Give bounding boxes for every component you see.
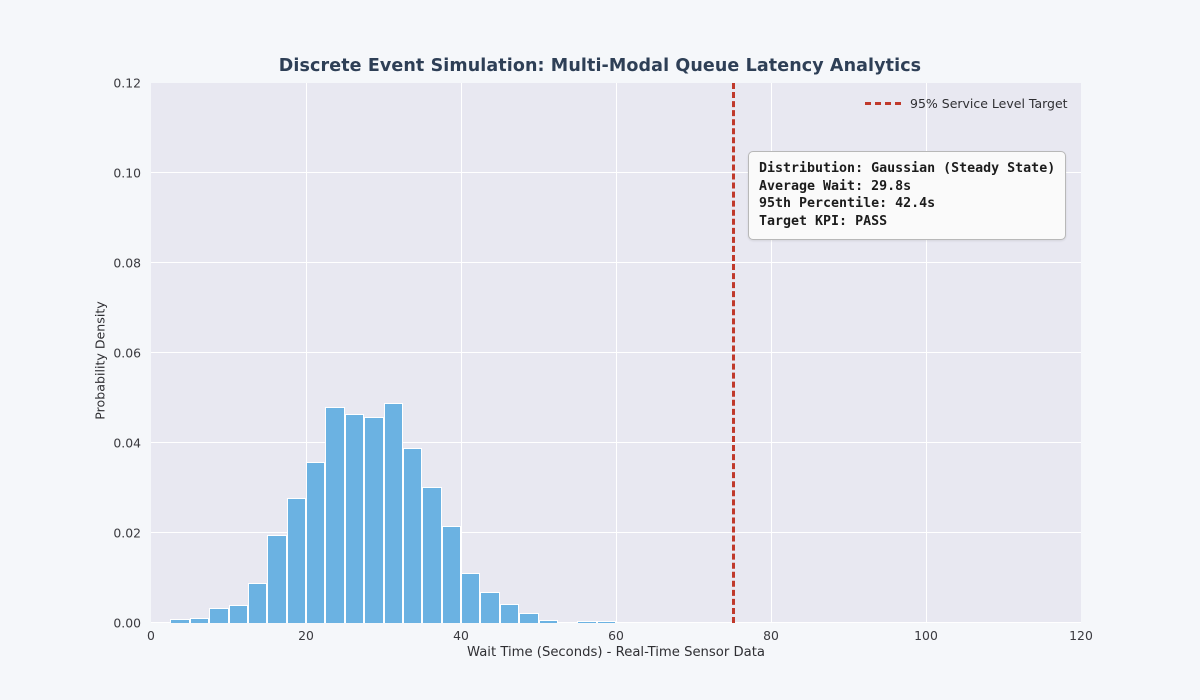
annotation-box: Distribution: Gaussian (Steady State) Av… xyxy=(748,151,1066,240)
histogram-bar xyxy=(267,535,286,623)
y-axis-tick-label: 0.08 xyxy=(113,256,141,271)
histogram-bar xyxy=(442,526,461,623)
threshold-line-95-percent xyxy=(732,83,735,623)
histogram-bar xyxy=(364,417,383,623)
gridline-vertical xyxy=(461,83,462,623)
x-axis-label: Wait Time (Seconds) - Real-Time Sensor D… xyxy=(151,645,1081,660)
histogram-bar xyxy=(306,462,325,623)
y-axis-tick-label: 0.10 xyxy=(113,166,141,181)
histogram-bar xyxy=(209,608,228,623)
x-axis-tick-label: 0 xyxy=(147,628,155,643)
legend-marker-dashed-line xyxy=(865,102,901,105)
y-axis-tick-label: 0.00 xyxy=(113,616,141,631)
histogram-bar xyxy=(500,604,519,623)
gridline-vertical xyxy=(616,83,617,623)
histogram-bar xyxy=(403,448,422,623)
x-axis-tick-label: 20 xyxy=(298,628,314,643)
histogram-bar xyxy=(461,573,480,623)
x-axis-tick-label: 40 xyxy=(453,628,469,643)
y-axis-label: Probability Density xyxy=(93,251,108,471)
y-axis-tick-label: 0.12 xyxy=(113,76,141,91)
histogram-bar xyxy=(597,621,616,623)
histogram-bar xyxy=(519,613,538,623)
histogram-bar xyxy=(539,620,558,623)
x-axis-tick-label: 80 xyxy=(763,628,779,643)
y-axis-tick-label: 0.06 xyxy=(113,346,141,361)
histogram-bar xyxy=(190,618,209,623)
histogram-bar xyxy=(577,621,596,623)
histogram-bar xyxy=(248,583,267,624)
chart-figure: Discrete Event Simulation: Multi-Modal Q… xyxy=(0,0,1200,700)
histogram-bar xyxy=(480,592,499,623)
x-axis-tick-label: 120 xyxy=(1069,628,1093,643)
y-axis-tick-label: 0.02 xyxy=(113,526,141,541)
legend-label: 95% Service Level Target xyxy=(910,96,1068,111)
histogram-bar xyxy=(422,487,441,623)
plot-area: 95% Service Level Target Distribution: G… xyxy=(151,83,1081,623)
histogram-bar xyxy=(384,403,403,623)
x-axis-tick-label: 60 xyxy=(608,628,624,643)
histogram-bar xyxy=(229,605,248,623)
histogram-bar xyxy=(287,498,306,623)
y-axis-tick-label: 0.04 xyxy=(113,436,141,451)
histogram-bar xyxy=(325,407,344,623)
histogram-bar xyxy=(345,414,364,623)
histogram-bar xyxy=(170,619,189,623)
x-axis-tick-label: 100 xyxy=(914,628,938,643)
legend: 95% Service Level Target xyxy=(859,93,1074,114)
chart-title: Discrete Event Simulation: Multi-Modal Q… xyxy=(0,56,1200,76)
